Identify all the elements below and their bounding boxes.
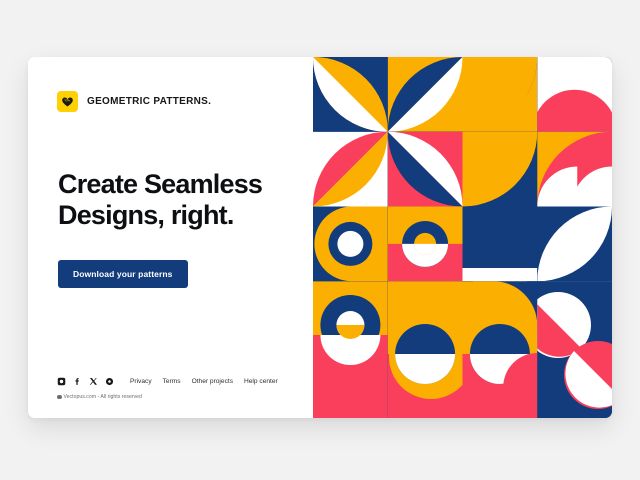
footer-link-help-center[interactable]: Help center bbox=[244, 378, 278, 385]
page-title: Create Seamless Designs, right. bbox=[58, 169, 303, 232]
x-twitter-icon[interactable] bbox=[89, 377, 98, 386]
copyright-text: Vectopus.com - All rights reserved bbox=[64, 394, 142, 400]
landing-card: GEOMETRIC PATTERNS. Create Seamless Desi… bbox=[28, 57, 612, 418]
heart-icon bbox=[57, 91, 78, 112]
dribbble-icon[interactable] bbox=[105, 377, 114, 386]
brand-name: GEOMETRIC PATTERNS. bbox=[87, 96, 211, 107]
footer: Privacy Terms Other projects Help center… bbox=[57, 377, 293, 400]
download-patterns-button[interactable]: Download your patterns bbox=[58, 260, 188, 288]
footer-link-other-projects[interactable]: Other projects bbox=[192, 378, 233, 385]
brand-logo[interactable]: GEOMETRIC PATTERNS. bbox=[57, 91, 211, 112]
facebook-icon[interactable] bbox=[73, 377, 82, 386]
instagram-icon[interactable] bbox=[57, 377, 66, 386]
copyright: Vectopus.com - All rights reserved bbox=[57, 394, 293, 400]
copyright-icon bbox=[57, 395, 62, 400]
geometric-pattern-panel bbox=[313, 57, 612, 418]
footer-link-terms[interactable]: Terms bbox=[163, 378, 181, 385]
footer-links: Privacy Terms Other projects Help center bbox=[130, 378, 278, 385]
footer-link-privacy[interactable]: Privacy bbox=[130, 378, 152, 385]
social-links bbox=[57, 377, 114, 386]
content-pane: GEOMETRIC PATTERNS. Create Seamless Desi… bbox=[28, 57, 313, 418]
pattern-artwork bbox=[313, 57, 612, 418]
